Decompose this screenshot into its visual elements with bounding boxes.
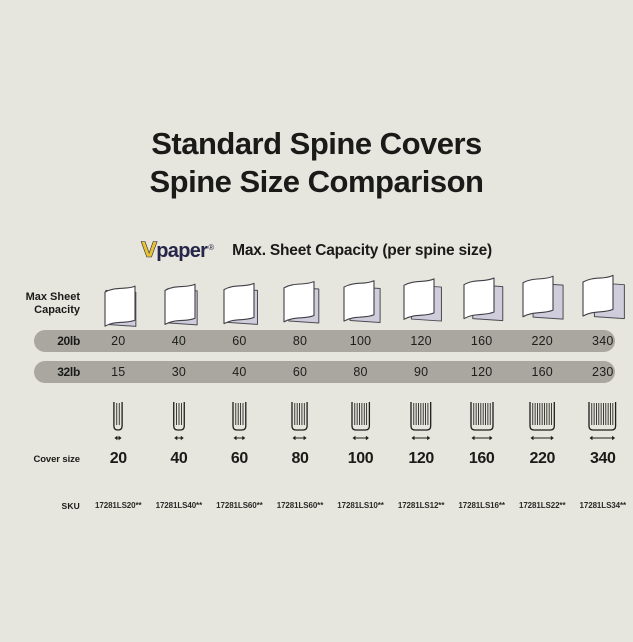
paper-stack-cells	[88, 278, 633, 330]
paper-stack-icon	[88, 278, 149, 330]
max-sheet-capacity-line2: Capacity	[0, 304, 80, 317]
paper-stack-icon	[270, 278, 331, 330]
cell-20lb-capacity: 120	[391, 330, 452, 352]
cell-sku: 17281LS10**	[330, 494, 391, 518]
spine-icon-row	[0, 392, 633, 446]
cell-cover-size: 60	[209, 446, 270, 472]
cell-20lb-capacity: 80	[270, 330, 331, 352]
paper-stack-icon-glyph	[209, 278, 270, 330]
cell-32lb-capacity: 230	[573, 361, 633, 383]
spine-size-icon	[451, 392, 512, 446]
cell-32lb-capacity: 160	[512, 361, 573, 383]
cell-sku: 17281LS60**	[209, 494, 270, 518]
cell-cover-size: 340	[573, 446, 633, 472]
cell-sku: 17281LS22**	[512, 494, 573, 518]
spine-size-icon	[88, 392, 149, 446]
cell-cover-size: 80	[270, 446, 331, 472]
spine-size-icon-glyph	[573, 392, 633, 446]
row-cells-sku: 17281LS20**17281LS40**17281LS60**17281LS…	[88, 494, 633, 518]
paper-stack-icon	[573, 278, 633, 330]
cell-cover-size: 120	[391, 446, 452, 472]
title-line-1: Standard Spine Covers	[0, 125, 633, 163]
table-row-20lb: 20lb 20406080100120160220340	[0, 330, 633, 352]
cell-20lb-capacity: 340	[573, 330, 633, 352]
logo-v-mark: V	[141, 240, 156, 261]
page-title: Standard Spine Covers Spine Size Compari…	[0, 125, 633, 201]
cell-sku: 17281LS40**	[149, 494, 210, 518]
cell-32lb-capacity: 30	[149, 361, 210, 383]
cell-sku: 17281LS34**	[573, 494, 633, 518]
spine-size-icon-glyph	[209, 392, 270, 446]
spine-size-icon-glyph	[270, 392, 331, 446]
spine-size-icon	[391, 392, 452, 446]
paper-stack-icon-glyph	[451, 278, 512, 330]
paper-stack-row: Max Sheet Capacity	[0, 278, 633, 330]
max-sheet-capacity-line1: Max Sheet	[0, 291, 80, 304]
table-row-sku: SKU 17281LS20**17281LS40**17281LS60**172…	[0, 494, 633, 518]
cell-20lb-capacity: 20	[88, 330, 149, 352]
cell-sku: 17281LS60**	[270, 494, 331, 518]
paper-stack-icon-glyph	[270, 278, 331, 330]
spine-size-icon-glyph	[88, 392, 149, 446]
cell-cover-size: 40	[149, 446, 210, 472]
cell-cover-size: 160	[451, 446, 512, 472]
spine-size-icon-glyph	[451, 392, 512, 446]
row-cells-32lb: 153040608090120160230	[88, 361, 633, 383]
cell-20lb-capacity: 220	[512, 330, 573, 352]
paper-stack-icon	[149, 278, 210, 330]
cell-20lb-capacity: 60	[209, 330, 270, 352]
logo-wordmark: paper	[156, 241, 207, 261]
spine-size-icon-glyph	[391, 392, 452, 446]
spine-size-icon	[573, 392, 633, 446]
cell-32lb-capacity: 15	[88, 361, 149, 383]
paper-stack-icon-glyph	[88, 278, 149, 330]
paper-stack-icon	[512, 278, 573, 330]
cell-cover-size: 100	[330, 446, 391, 472]
cell-cover-size: 20	[88, 446, 149, 472]
row-label-20lb: 20lb	[0, 335, 88, 348]
cell-sku: 17281LS16**	[451, 494, 512, 518]
cell-sku: 17281LS20**	[88, 494, 149, 518]
row-label-32lb: 32lb	[0, 366, 88, 379]
spine-size-icon-glyph	[330, 392, 391, 446]
registered-trademark-icon: ®	[208, 244, 214, 252]
cell-20lb-capacity: 160	[451, 330, 512, 352]
spine-icon-cells	[88, 392, 633, 446]
spine-comparison-infographic: Standard Spine Covers Spine Size Compari…	[0, 0, 633, 642]
paper-stack-icon-glyph	[573, 278, 633, 330]
cell-32lb-capacity: 120	[451, 361, 512, 383]
row-label-sku: SKU	[0, 500, 88, 513]
cell-20lb-capacity: 40	[149, 330, 210, 352]
vpaper-logo: Vpaper®	[141, 240, 214, 261]
spine-size-icon	[149, 392, 210, 446]
row-label-cover-size: Cover size	[0, 453, 88, 466]
subtitle-row: Vpaper® Max. Sheet Capacity (per spine s…	[0, 240, 633, 261]
paper-stack-icon-glyph	[391, 278, 452, 330]
paper-stack-icon	[209, 278, 270, 330]
spine-size-icon	[512, 392, 573, 446]
subtitle-caption: Max. Sheet Capacity (per spine size)	[232, 242, 492, 260]
paper-stack-icon-glyph	[149, 278, 210, 330]
cell-20lb-capacity: 100	[330, 330, 391, 352]
table-row-32lb: 32lb 153040608090120160230	[0, 361, 633, 383]
spine-size-icon-glyph	[149, 392, 210, 446]
paper-stack-icon-glyph	[330, 278, 391, 330]
paper-stack-icon	[451, 278, 512, 330]
spine-size-icon-glyph	[512, 392, 573, 446]
title-line-2: Spine Size Comparison	[0, 163, 633, 201]
cell-32lb-capacity: 40	[209, 361, 270, 383]
paper-stack-icon	[330, 278, 391, 330]
row-cells-20lb: 20406080100120160220340	[88, 330, 633, 352]
cell-sku: 17281LS12**	[391, 494, 452, 518]
table-row-cover-size: Cover size 20406080100120160220340	[0, 446, 633, 472]
paper-stack-icon-glyph	[512, 278, 573, 330]
cell-32lb-capacity: 60	[270, 361, 331, 383]
max-sheet-capacity-label: Max Sheet Capacity	[0, 291, 88, 317]
cell-cover-size: 220	[512, 446, 573, 472]
comparison-table: Max Sheet Capacity 20lb 2040608010012016…	[0, 278, 633, 518]
cell-32lb-capacity: 80	[330, 361, 391, 383]
paper-stack-icon	[391, 278, 452, 330]
spine-size-icon	[330, 392, 391, 446]
spine-size-icon	[270, 392, 331, 446]
cell-32lb-capacity: 90	[391, 361, 452, 383]
row-cells-cover-size: 20406080100120160220340	[88, 446, 633, 472]
spine-size-icon	[209, 392, 270, 446]
